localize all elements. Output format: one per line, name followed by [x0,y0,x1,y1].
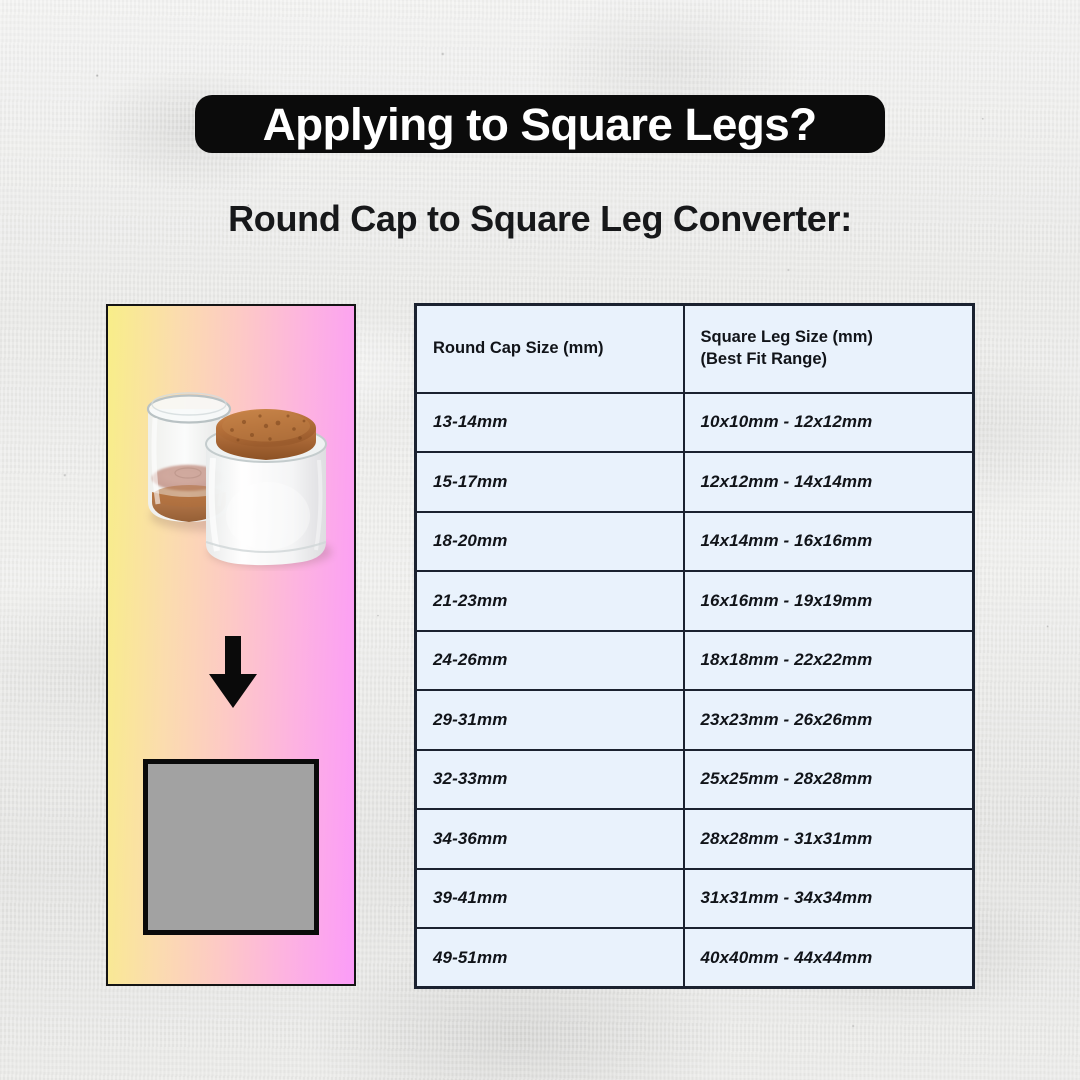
cell-round-cap: 21-23mm [416,571,684,631]
subtitle: Round Cap to Square Leg Converter: [0,198,1080,240]
cell-round-cap: 24-26mm [416,631,684,691]
cell-round-cap: 32-33mm [416,750,684,810]
column-header-square-leg-line2: (Best Fit Range) [701,349,957,371]
table-row: 18-20mm 14x14mm - 16x16mm [416,512,974,572]
cell-square-leg: 31x31mm - 34x34mm [684,869,974,929]
cell-round-cap: 13-14mm [416,393,684,453]
cell-square-leg: 28x28mm - 31x31mm [684,809,974,869]
cell-square-leg: 40x40mm - 44x44mm [684,928,974,988]
table-row: 13-14mm 10x10mm - 12x12mm [416,393,974,453]
table-header-row: Round Cap Size (mm) Square Leg Size (mm)… [416,305,974,393]
cell-round-cap: 15-17mm [416,452,684,512]
table-row: 21-23mm 16x16mm - 19x19mm [416,571,974,631]
table-row: 39-41mm 31x31mm - 34x34mm [416,869,974,929]
cell-square-leg: 18x18mm - 22x22mm [684,631,974,691]
cell-round-cap: 49-51mm [416,928,684,988]
column-header-square-leg: Square Leg Size (mm) (Best Fit Range) [684,305,974,393]
table-row: 49-51mm 40x40mm - 44x44mm [416,928,974,988]
table-row: 34-36mm 28x28mm - 31x31mm [416,809,974,869]
cell-square-leg: 10x10mm - 12x12mm [684,393,974,453]
column-header-round-cap: Round Cap Size (mm) [416,305,684,393]
cell-round-cap: 29-31mm [416,690,684,750]
cell-square-leg: 25x25mm - 28x28mm [684,750,974,810]
table-row: 15-17mm 12x12mm - 14x14mm [416,452,974,512]
column-header-square-leg-line1: Square Leg Size (mm) [701,327,957,349]
page-title: Applying to Square Legs? [263,102,817,147]
cell-square-leg: 12x12mm - 14x14mm [684,452,974,512]
square-leg-shape [143,759,319,935]
cell-square-leg: 14x14mm - 16x16mm [684,512,974,572]
table-row: 24-26mm 18x18mm - 22x22mm [416,631,974,691]
table-row: 29-31mm 23x23mm - 26x26mm [416,690,974,750]
table-row: 32-33mm 25x25mm - 28x28mm [416,750,974,810]
cell-square-leg: 23x23mm - 26x26mm [684,690,974,750]
title-badge: Applying to Square Legs? [195,95,885,153]
round-cap-to-square-leg-table: Round Cap Size (mm) Square Leg Size (mm)… [414,303,975,989]
visual-panel [106,304,356,986]
cell-square-leg: 16x16mm - 19x19mm [684,571,974,631]
down-arrow-icon [207,634,259,710]
cell-round-cap: 34-36mm [416,809,684,869]
jars-product-image [118,356,348,571]
cell-round-cap: 18-20mm [416,512,684,572]
cell-round-cap: 39-41mm [416,869,684,929]
column-header-round-cap-line1: Round Cap Size (mm) [433,338,667,360]
